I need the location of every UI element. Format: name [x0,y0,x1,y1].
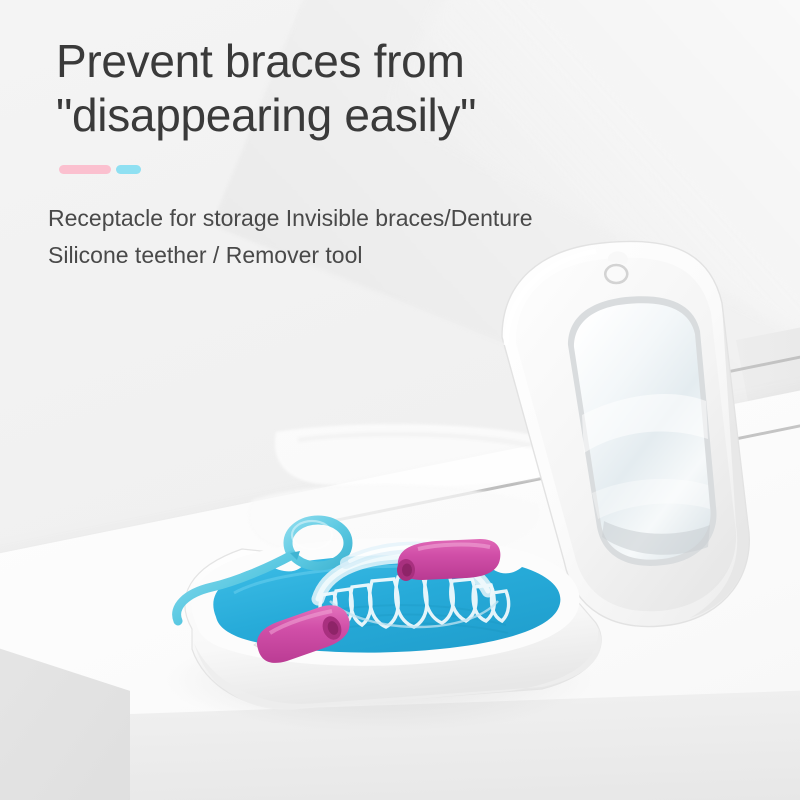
headline-block: Prevent braces from "disappearing easily… [56,34,716,174]
headline-line-2: "disappearing easily" [56,88,716,142]
case-tray [185,538,602,710]
product-banner: Prevent braces from "disappearing easily… [0,0,800,800]
accent-rule [59,165,716,174]
accent-rule-pink [59,165,111,174]
product-case [150,225,770,745]
accent-rule-blue [116,165,141,174]
headline-line-1: Prevent braces from [56,34,716,88]
teether-upper-bore-inner [402,564,412,577]
